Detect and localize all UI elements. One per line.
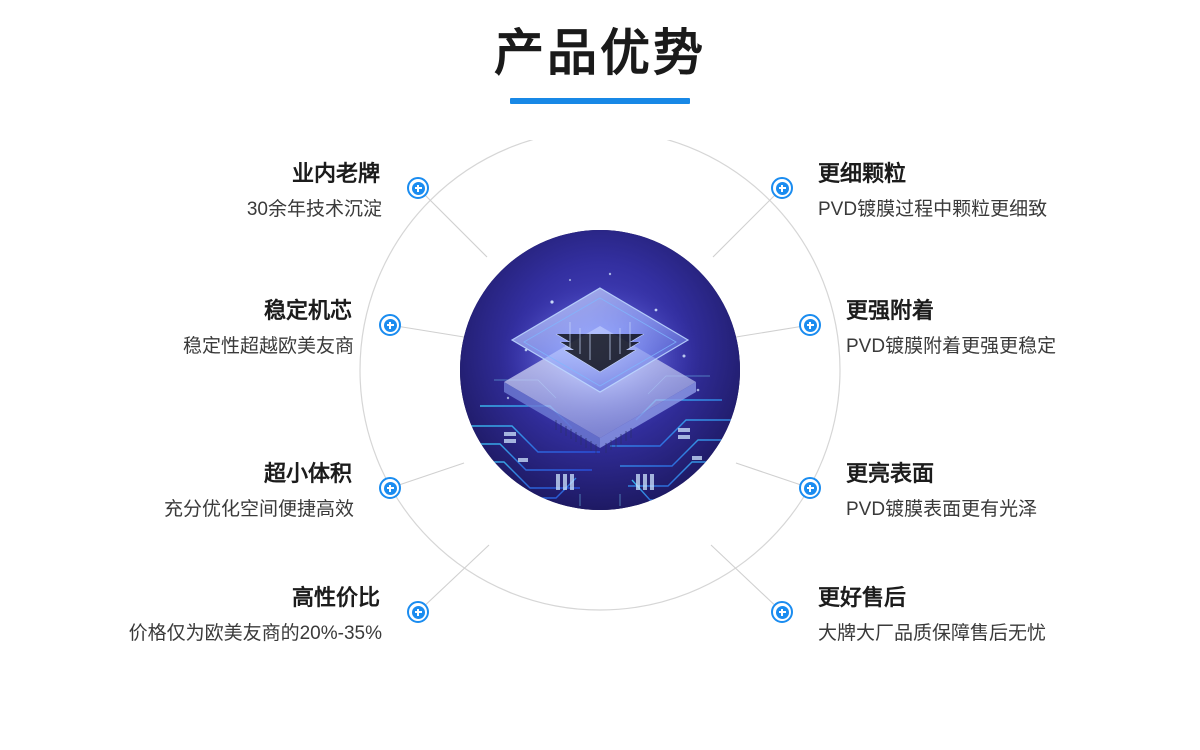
feature-desc: 30余年技术沉淀	[247, 196, 382, 225]
feature-item-right-4[interactable]: 更好售后 大牌大厂品质保障售后无忧	[818, 582, 1046, 648]
cpu-chip-illustration	[460, 230, 740, 510]
plus-circle-icon-2[interactable]	[379, 314, 401, 336]
feature-item-left-3[interactable]: 超小体积 充分优化空间便捷高效	[164, 458, 354, 524]
title-underline	[510, 98, 690, 104]
plus-glyph	[384, 482, 397, 495]
feature-item-left-4[interactable]: 高性价比 价格仅为欧美友商的20%-35%	[129, 582, 382, 648]
plus-glyph	[412, 182, 425, 195]
feature-title: 高性价比	[129, 582, 382, 614]
page-title: 产品优势	[0, 22, 1200, 85]
product-advantages-infographic: 产品优势	[0, 0, 1200, 750]
feature-title: 更强附着	[846, 295, 1056, 327]
title-block: 产品优势	[0, 22, 1200, 104]
feature-desc: 稳定性超越欧美友商	[183, 333, 354, 362]
feature-desc: PVD镀膜附着更强更稳定	[846, 333, 1056, 362]
plus-circle-icon-5[interactable]	[771, 177, 793, 199]
feature-title: 业内老牌	[247, 158, 382, 190]
feature-desc: PVD镀膜表面更有光泽	[846, 496, 1037, 525]
feature-desc: 大牌大厂品质保障售后无忧	[818, 620, 1046, 649]
plus-glyph	[804, 319, 817, 332]
feature-title: 超小体积	[164, 458, 354, 490]
plus-circle-icon-4[interactable]	[407, 601, 429, 623]
plus-circle-icon-6[interactable]	[799, 314, 821, 336]
feature-title: 稳定机芯	[183, 295, 354, 327]
feature-title: 更细颗粒	[818, 158, 1047, 190]
feature-item-left-1[interactable]: 业内老牌 30余年技术沉淀	[247, 158, 382, 224]
feature-title: 更亮表面	[846, 458, 1037, 490]
radial-diagram: 业内老牌 30余年技术沉淀 稳定机芯 稳定性超越欧美友商 超小体积 充分优化空间…	[0, 140, 1200, 750]
plus-glyph	[384, 319, 397, 332]
feature-item-right-3[interactable]: 更亮表面 PVD镀膜表面更有光泽	[846, 458, 1037, 524]
plus-glyph	[776, 606, 789, 619]
plus-circle-icon-7[interactable]	[799, 477, 821, 499]
feature-item-right-2[interactable]: 更强附着 PVD镀膜附着更强更稳定	[846, 295, 1056, 361]
feature-item-left-2[interactable]: 稳定机芯 稳定性超越欧美友商	[183, 295, 354, 361]
plus-glyph	[412, 606, 425, 619]
feature-desc: PVD镀膜过程中颗粒更细致	[818, 196, 1047, 225]
feature-desc: 价格仅为欧美友商的20%-35%	[129, 620, 382, 649]
feature-item-right-1[interactable]: 更细颗粒 PVD镀膜过程中颗粒更细致	[818, 158, 1047, 224]
plus-circle-icon-3[interactable]	[379, 477, 401, 499]
center-chip-image	[460, 230, 740, 510]
feature-desc: 充分优化空间便捷高效	[164, 496, 354, 525]
plus-circle-icon-1[interactable]	[407, 177, 429, 199]
feature-title: 更好售后	[818, 582, 1046, 614]
plus-circle-icon-8[interactable]	[771, 601, 793, 623]
plus-glyph	[804, 482, 817, 495]
plus-glyph	[776, 182, 789, 195]
